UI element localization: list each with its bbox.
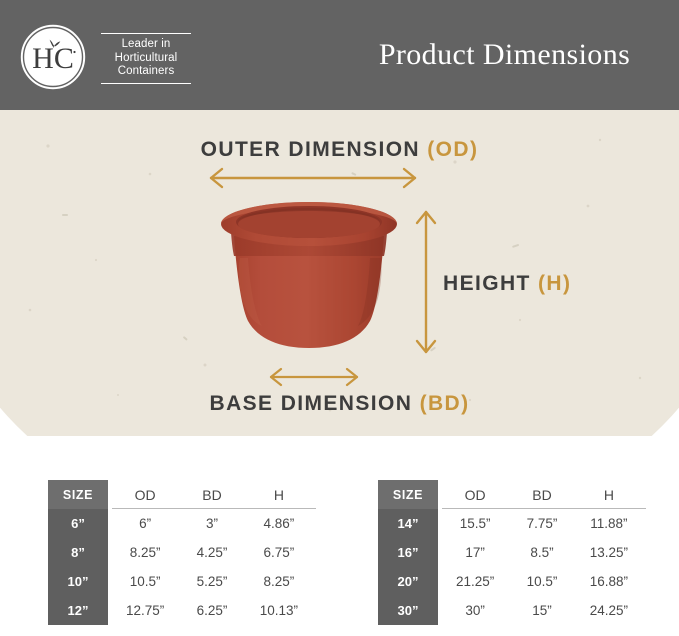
cell-bd: 8.5” xyxy=(512,538,572,567)
tagline-line-3: Containers xyxy=(118,65,175,77)
cell-size: 30” xyxy=(378,596,438,625)
cell-od: 10.5” xyxy=(108,567,182,596)
cell-h: 13.25” xyxy=(572,538,646,567)
height-label: HEIGHT (H) xyxy=(443,272,571,296)
hc-circle-logo-icon: HC xyxy=(18,22,88,92)
cell-size: 6” xyxy=(48,509,108,538)
terracotta-planter-pot-image xyxy=(218,196,400,360)
table-header-row: SIZE OD BD H xyxy=(378,480,646,509)
column-header-od: OD xyxy=(438,480,512,509)
cell-od: 8.25” xyxy=(108,538,182,567)
column-header-h: H xyxy=(242,480,316,509)
table-row: 12” 12.75” 6.25” 10.13” xyxy=(48,596,316,625)
column-header-bd: BD xyxy=(512,480,572,509)
cell-size: 16” xyxy=(378,538,438,567)
outer-dimension-tag: (OD) xyxy=(427,138,478,161)
cell-bd: 15” xyxy=(512,596,572,625)
base-dimension-arrow xyxy=(266,366,362,388)
column-header-bd: BD xyxy=(182,480,242,509)
table-row: 16” 17” 8.5” 13.25” xyxy=(378,538,646,567)
cell-h: 16.88” xyxy=(572,567,646,596)
base-dimension-label: BASE DIMENSION (BD) xyxy=(0,392,679,416)
cell-bd: 6.25” xyxy=(182,596,242,625)
column-header-size: SIZE xyxy=(378,480,438,509)
table-row: 10” 10.5” 5.25” 8.25” xyxy=(48,567,316,596)
cell-bd: 7.75” xyxy=(512,509,572,538)
cell-od: 6” xyxy=(108,509,182,538)
cell-od: 21.25” xyxy=(438,567,512,596)
cell-size: 10” xyxy=(48,567,108,596)
height-text: HEIGHT xyxy=(443,272,531,295)
height-tag: (H) xyxy=(538,272,571,295)
pot-inner-wall xyxy=(238,210,380,238)
column-header-size: SIZE xyxy=(48,480,108,509)
brand-logo: HC Leader in Horticultural Containers xyxy=(18,22,188,92)
cell-bd: 4.25” xyxy=(182,538,242,567)
dimensions-table-right: SIZE OD BD H 14” 15.5” 7.75” 11.88” 16” … xyxy=(378,480,646,625)
table-row: 8” 8.25” 4.25” 6.75” xyxy=(48,538,316,567)
base-dimension-text: BASE DIMENSION xyxy=(210,392,413,415)
cell-od: 15.5” xyxy=(438,509,512,538)
outer-dimension-label: OUTER DIMENSION (OD) xyxy=(0,138,679,162)
cell-h: 6.75” xyxy=(242,538,316,567)
cell-bd: 3” xyxy=(182,509,242,538)
outer-dimension-text: OUTER DIMENSION xyxy=(201,138,420,161)
cell-bd: 10.5” xyxy=(512,567,572,596)
outer-dimension-arrow xyxy=(205,166,421,190)
column-header-h: H xyxy=(572,480,646,509)
tagline-line-2: Horticultural xyxy=(115,52,178,64)
cell-size: 12” xyxy=(48,596,108,625)
table-row: 14” 15.5” 7.75” 11.88” xyxy=(378,509,646,538)
tagline-bottom-rule xyxy=(101,83,191,84)
table-row: 30” 30” 15” 24.25” xyxy=(378,596,646,625)
cell-od: 30” xyxy=(438,596,512,625)
tagline-top-rule xyxy=(101,33,191,34)
height-arrow xyxy=(414,206,438,358)
dimensions-table-left: SIZE OD BD H 6” 6” 3” 4.86” 8” 8.25” 4.2… xyxy=(48,480,316,625)
column-header-od: OD xyxy=(108,480,182,509)
product-dimensions-infographic: HC Leader in Horticultural Containers Pr… xyxy=(0,0,679,636)
brand-tagline: Leader in Horticultural Containers xyxy=(100,30,192,84)
cell-od: 17” xyxy=(438,538,512,567)
header-bar: HC Leader in Horticultural Containers Pr… xyxy=(0,0,679,110)
base-dimension-tag: (BD) xyxy=(420,392,470,415)
cell-bd: 5.25” xyxy=(182,567,242,596)
cell-size: 20” xyxy=(378,567,438,596)
cell-h: 4.86” xyxy=(242,509,316,538)
cell-h: 10.13” xyxy=(242,596,316,625)
tagline-line-1: Leader in xyxy=(122,38,171,50)
cell-h: 8.25” xyxy=(242,567,316,596)
page-title: Product Dimensions xyxy=(330,0,679,110)
cell-size: 8” xyxy=(48,538,108,567)
cell-h: 24.25” xyxy=(572,596,646,625)
cell-size: 14” xyxy=(378,509,438,538)
cell-od: 12.75” xyxy=(108,596,182,625)
svg-text:HC: HC xyxy=(32,42,74,75)
table-row: 6” 6” 3” 4.86” xyxy=(48,509,316,538)
cell-h: 11.88” xyxy=(572,509,646,538)
table-header-row: SIZE OD BD H xyxy=(48,480,316,509)
table-row: 20” 21.25” 10.5” 16.88” xyxy=(378,567,646,596)
